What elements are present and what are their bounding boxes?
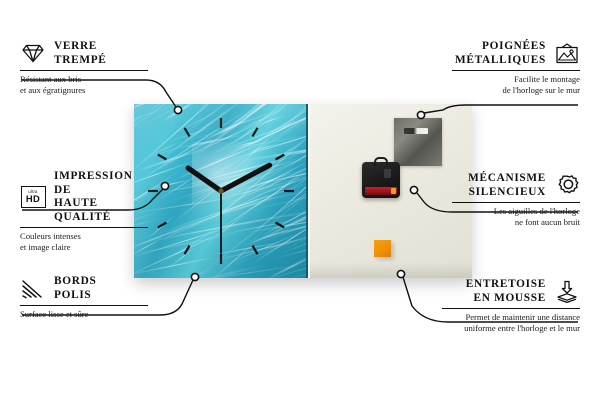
feature-divider: [20, 305, 148, 306]
diamond-icon: [20, 41, 46, 67]
feature-poignees-metalliques: POIGNÉES MÉTALLIQUES Facilite le montage…: [452, 40, 580, 95]
feature-title: ENTRETOISE EN MOUSSE: [466, 278, 546, 305]
feature-description: Permet de maintenir une distance uniform…: [442, 312, 580, 333]
mechanism-detail: [384, 169, 391, 178]
gear-icon: [554, 173, 580, 199]
ultra-hd-icon: ultra HD: [20, 184, 46, 210]
feature-mecanisme-silencieux: MÉCANISME SILENCIEUX Les aiguilles de l'…: [452, 172, 580, 227]
product-photo: [134, 104, 472, 278]
clock-back-panel: [310, 104, 472, 278]
feature-description: Les aiguilles de l'horloge ne font aucun…: [452, 206, 580, 227]
clock-mechanism-box: [362, 162, 400, 198]
feature-description: Couleurs intenses et image claire: [20, 231, 148, 252]
feature-heading: ultra HD IMPRESSION DE HAUTE QUALITÉ: [20, 170, 148, 224]
hanger-slot: [404, 128, 428, 134]
feature-title: IMPRESSION DE HAUTE QUALITÉ: [54, 170, 148, 224]
ultra-hd-icon-large-label: HD: [26, 194, 40, 203]
glass-reflection: [134, 104, 306, 278]
feature-title: VERRE TREMPÉ: [54, 40, 107, 67]
feature-description: Facilite le montage de l'horloge sur le …: [452, 74, 580, 95]
feature-verre-trempe: VERRE TREMPÉ Résistant aux bris et aux é…: [20, 40, 148, 95]
arrow-down-layers-icon: [554, 279, 580, 305]
wall-shadow: [310, 262, 472, 278]
feature-heading: VERRE TREMPÉ: [20, 40, 148, 67]
feature-divider: [452, 70, 580, 71]
battery: [365, 187, 397, 195]
diagonal-lines-icon: [20, 276, 46, 302]
feature-bords-polis: BORDS POLIS Surface lisse et sûre: [20, 275, 148, 320]
metal-hanger-plate: [394, 118, 442, 166]
clock-front-face: [134, 104, 308, 278]
picture-frame-icon: [554, 41, 580, 67]
feature-heading: MÉCANISME SILENCIEUX: [452, 172, 580, 199]
battery-terminal: [391, 188, 396, 194]
feature-heading: ENTRETOISE EN MOUSSE: [442, 278, 580, 305]
feature-entretoise-en-mousse: ENTRETOISE EN MOUSSE Permet de maintenir…: [442, 278, 580, 333]
feature-description: Résistant aux bris et aux égratignures: [20, 74, 148, 95]
mechanism-hanger-loop: [374, 157, 388, 166]
feature-heading: BORDS POLIS: [20, 275, 148, 302]
feature-title: BORDS POLIS: [54, 275, 96, 302]
foam-spacer: [374, 240, 391, 257]
feature-divider: [452, 202, 580, 203]
infographic-canvas: VERRE TREMPÉ Résistant aux bris et aux é…: [0, 0, 600, 400]
feature-divider: [20, 70, 148, 71]
feature-divider: [20, 227, 148, 228]
feature-heading: POIGNÉES MÉTALLIQUES: [452, 40, 580, 67]
feature-description: Surface lisse et sûre: [20, 309, 148, 320]
feature-title: MÉCANISME SILENCIEUX: [468, 172, 546, 199]
feature-title: POIGNÉES MÉTALLIQUES: [455, 40, 546, 67]
feature-impression-haute-qualite: ultra HD IMPRESSION DE HAUTE QUALITÉ Cou…: [20, 170, 148, 252]
feature-divider: [442, 308, 580, 309]
